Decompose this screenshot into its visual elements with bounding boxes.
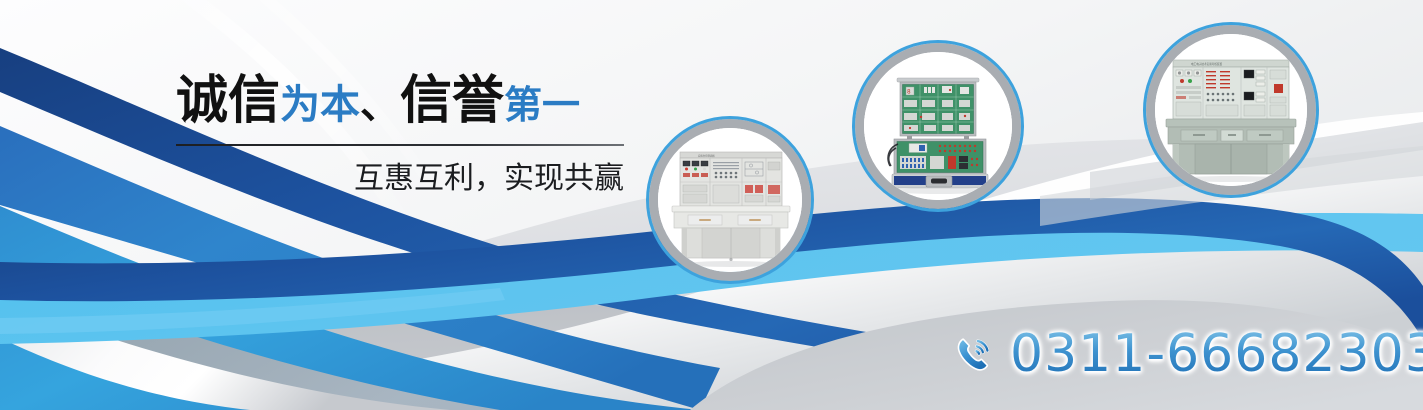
slogan-block: 诚信为本、信誉第一 互惠互利，实现共赢 [176,70,626,198]
console-bench-icon: 电工电子技术实训考核装置 [1155,34,1307,186]
suitcase-trainer-icon: 8 [864,52,1012,200]
product-circle-3[interactable]: 电工电子技术实训考核装置 [1155,34,1307,186]
headline-part1: 诚信 [176,71,280,131]
phone-icon [952,331,998,377]
contact-block[interactable]: 0311-66682303 [952,326,1423,382]
headline-part2: 为本 [280,82,360,128]
product-circle-2[interactable]: 8 [864,52,1012,200]
headline-part5: 第一 [504,83,580,127]
product-circle-1[interactable]: 实验台控制面板 [658,128,802,272]
headline-part4: 信誉 [400,71,504,131]
svg-text:电工电子技术实训考核装置: 电工电子技术实训考核装置 [1191,62,1223,66]
headline: 诚信为本、信誉第一 [176,70,626,136]
lab-bench-icon: 实验台控制面板 [658,128,802,272]
promo-banner: 诚信为本、信誉第一 互惠互利，实现共赢 实验台控制面板 [0,0,1423,410]
headline-comma: 、 [360,82,400,128]
svg-text:8: 8 [907,89,911,96]
svg-text:实验台控制面板: 实验台控制面板 [698,154,715,158]
subtitle: 互惠互利，实现共赢 [176,160,624,198]
phone-number[interactable]: 0311-66682303 [1010,326,1423,382]
headline-divider [176,144,624,146]
